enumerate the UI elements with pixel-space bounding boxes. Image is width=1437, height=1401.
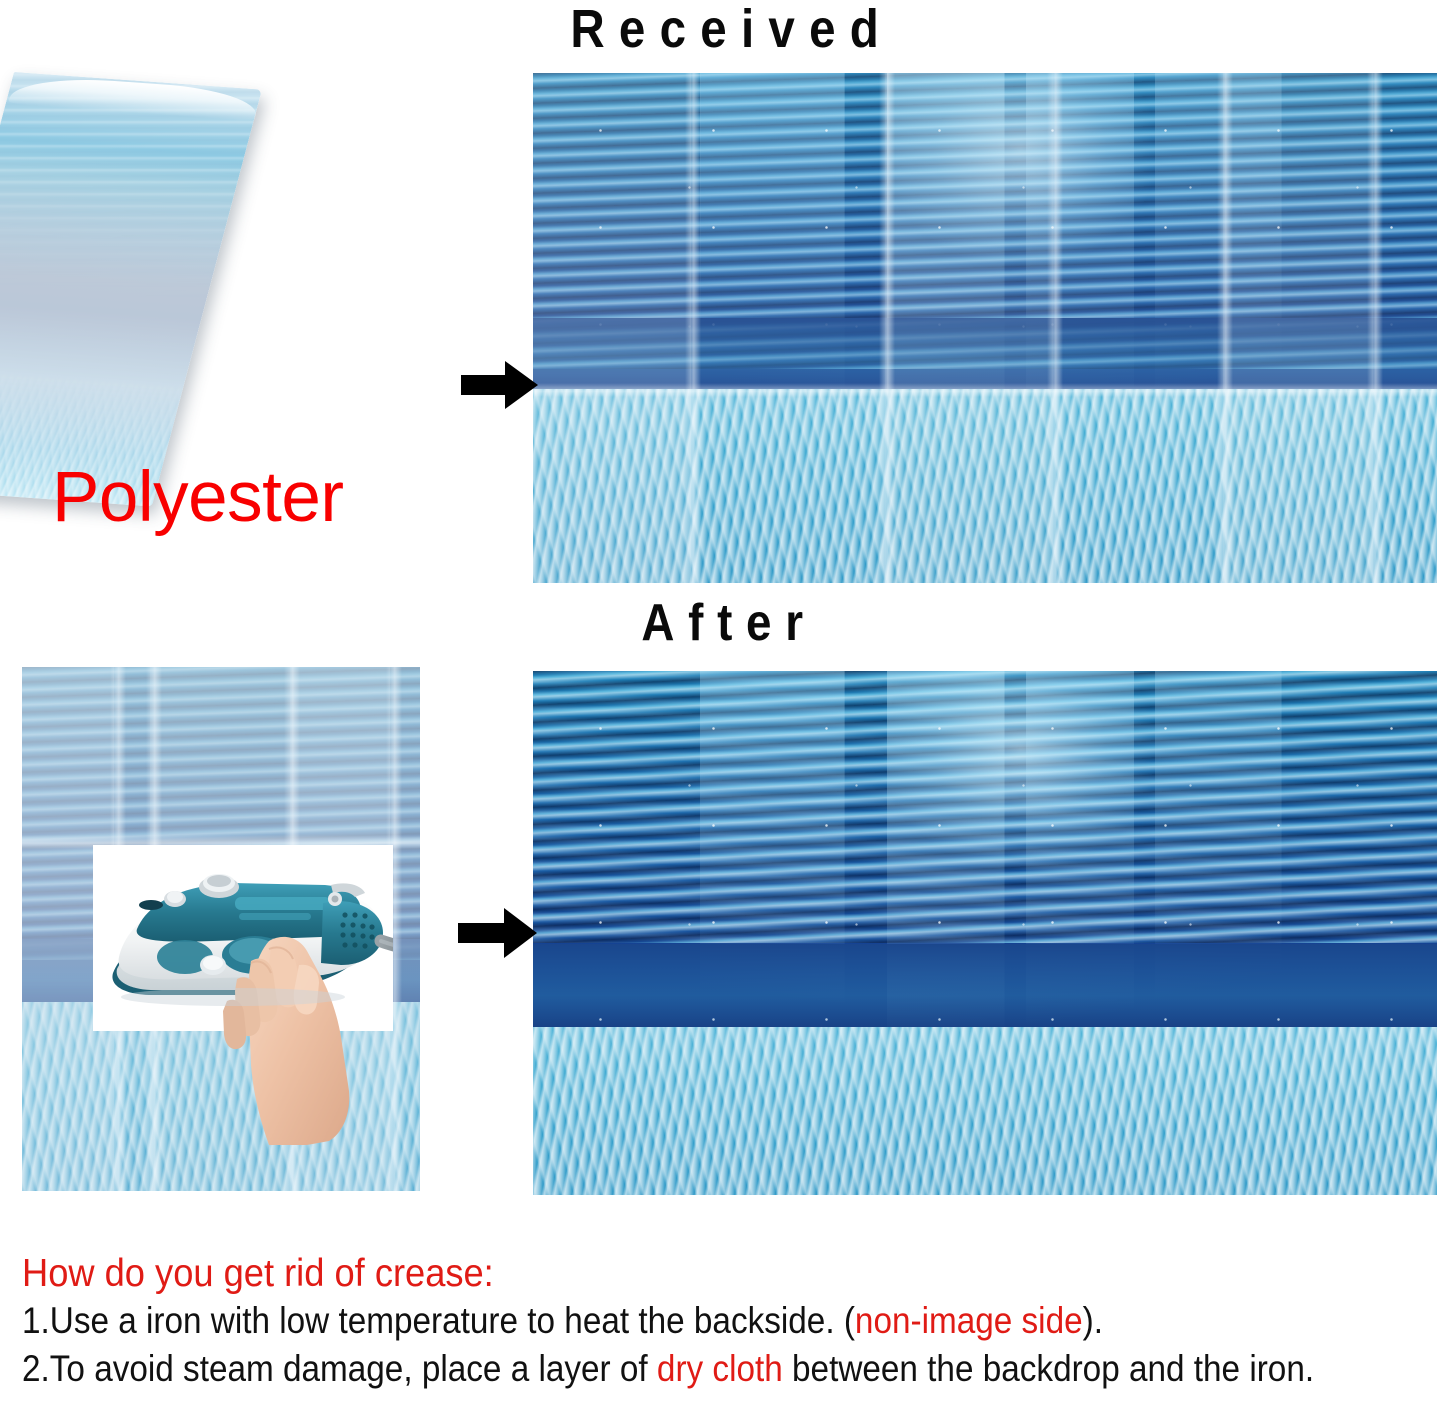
- fabric-caustic-texture: [0, 72, 262, 507]
- care-instructions: How do you get rid of crease: 1.Use a ir…: [22, 1252, 1422, 1391]
- folded-polyester-fabric-icon: [14, 72, 364, 492]
- steam-iron-with-hand-photo: [93, 845, 393, 1031]
- instruction-1-text-part2: ).: [1083, 1300, 1103, 1341]
- sandy-seabed: [533, 1027, 1437, 1195]
- polyester-material-label: Polyester: [52, 462, 343, 533]
- instruction-1-number: 1.: [22, 1300, 50, 1341]
- instructions-heading: How do you get rid of crease:: [22, 1252, 1324, 1296]
- sandy-seabed: [533, 389, 1437, 583]
- instruction-2-highlight: dry cloth: [657, 1348, 783, 1389]
- seabed-fade: [533, 944, 1437, 1038]
- instruction-line-2: 2.To avoid steam damage, place a layer o…: [22, 1346, 1282, 1392]
- instruction-1-highlight: non-image side: [855, 1300, 1083, 1341]
- instruction-2-text-part2: between the backdrop and the iron.: [783, 1348, 1314, 1389]
- section-title-received: Received: [86, 2, 1351, 56]
- after-backdrop-photo: [533, 671, 1437, 1195]
- right-arrow-icon: [458, 906, 538, 965]
- right-arrow-icon: [461, 359, 539, 416]
- received-backdrop-photo: [533, 73, 1437, 583]
- instruction-1-text-part1: Use a iron with low temperature to heat …: [50, 1300, 855, 1341]
- section-title-after: After: [86, 597, 1351, 649]
- instruction-line-1: 1.Use a iron with low temperature to hea…: [22, 1298, 1282, 1344]
- instruction-2-text-part1: To avoid steam damage, place a layer of: [50, 1348, 657, 1389]
- instruction-2-number: 2.: [22, 1348, 50, 1389]
- seabed-fade: [533, 318, 1437, 400]
